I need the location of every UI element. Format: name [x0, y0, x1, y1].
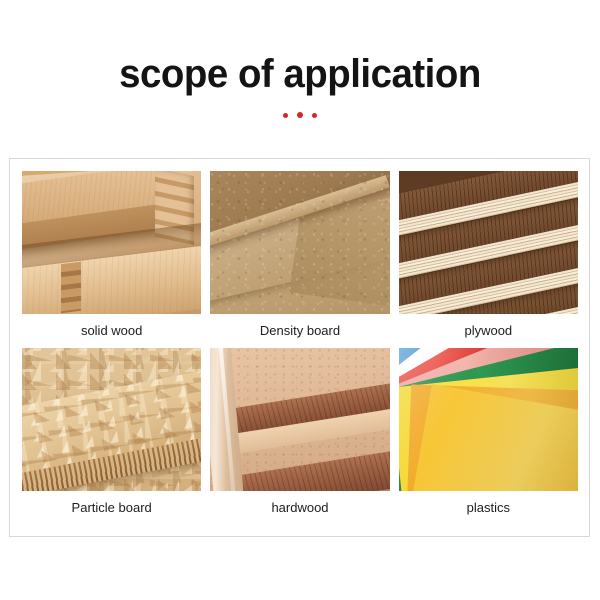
page-header: scope of application [0, 0, 600, 158]
page-title: scope of application [12, 52, 588, 96]
solid-wood-image [22, 171, 201, 314]
scope-of-application-page: scope of application solid wood [0, 0, 600, 600]
caption-particle-board: Particle board [22, 491, 201, 525]
dot-left-icon [283, 113, 288, 118]
caption-hardwood: hardwood [210, 491, 389, 525]
hardwood-image [210, 348, 389, 491]
caption-plastics: plastics [399, 491, 578, 525]
gallery-item-hardwood[interactable]: hardwood [210, 348, 389, 525]
gallery-frame: solid wood Density board [9, 158, 590, 537]
gallery-item-density-board[interactable]: Density board [210, 171, 389, 348]
gallery-grid: solid wood Density board [22, 171, 578, 525]
caption-plywood: plywood [399, 314, 578, 348]
gallery-item-solid-wood[interactable]: solid wood [22, 171, 201, 348]
gallery-item-plywood[interactable]: plywood [399, 171, 578, 348]
gallery-item-particle-board[interactable]: Particle board [22, 348, 201, 525]
plastics-image [399, 348, 578, 491]
particle-board-image [22, 348, 201, 491]
density-board-grain-texture [210, 171, 389, 314]
plywood-image [399, 171, 578, 314]
dot-right-icon [312, 113, 317, 118]
density-board-image [210, 171, 389, 314]
solid-wood-dovetail-left [61, 261, 81, 312]
caption-solid-wood: solid wood [22, 314, 201, 348]
caption-density-board: Density board [210, 314, 389, 348]
dot-middle-icon [297, 112, 303, 118]
decorative-dots [0, 110, 600, 120]
gallery-item-plastics[interactable]: plastics [399, 348, 578, 525]
